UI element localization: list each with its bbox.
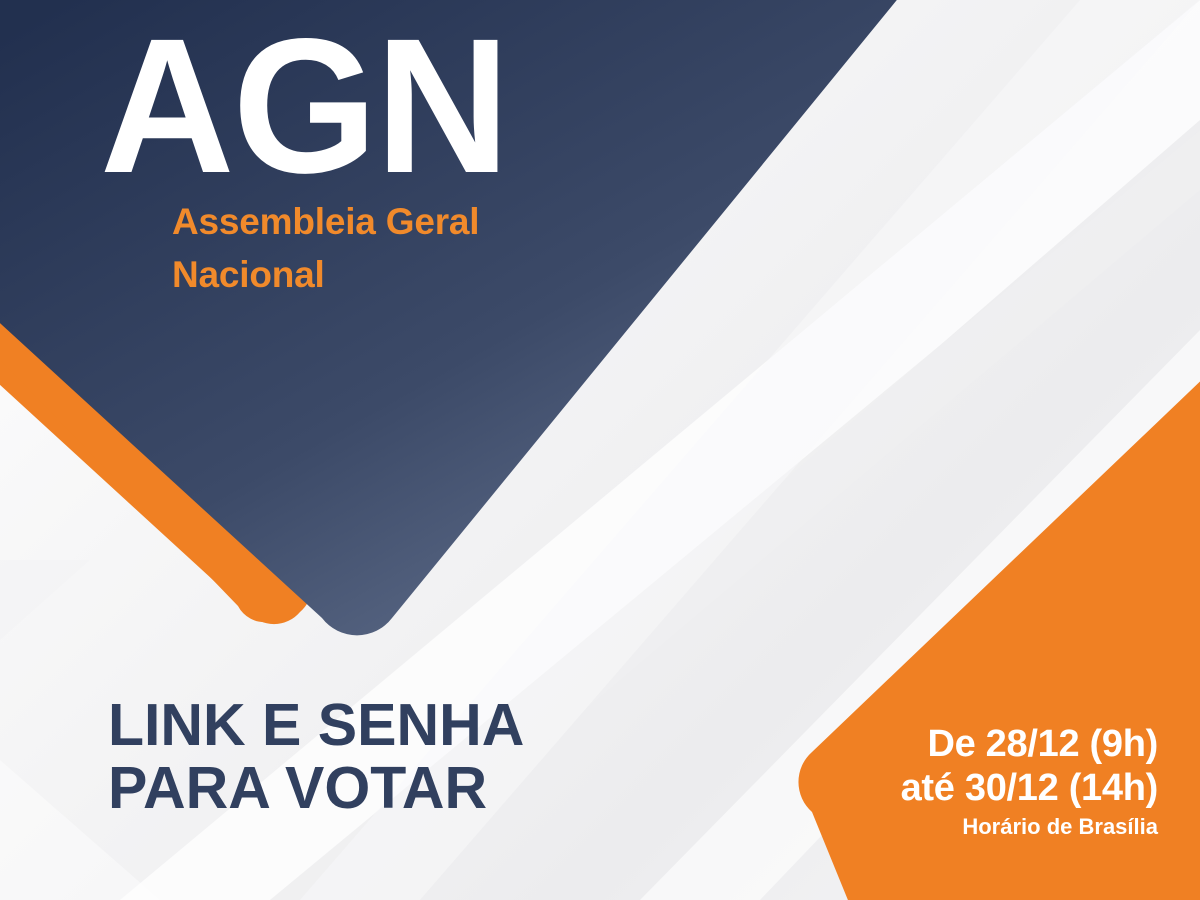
date-badge-end: até 30/12 (14h) — [738, 766, 1158, 810]
logo-acronym: AGN — [100, 18, 721, 195]
headline-line-2: PARA VOTAR — [108, 757, 524, 820]
date-badge-start: De 28/12 (9h) — [738, 722, 1158, 766]
date-badge-timezone: Horário de Brasília — [738, 812, 1158, 842]
headline: LINK E SENHA PARA VOTAR — [108, 694, 524, 819]
logo-lockup: AGN Assembleia Geral Nacional — [100, 18, 740, 302]
poster-canvas: AGN Assembleia Geral Nacional LINK E SEN… — [0, 0, 1200, 900]
date-badge: De 28/12 (9h) até 30/12 (14h) Horário de… — [738, 722, 1158, 842]
headline-line-1: LINK E SENHA — [108, 694, 524, 757]
logo-subtitle-line-2: Nacional — [172, 248, 740, 302]
